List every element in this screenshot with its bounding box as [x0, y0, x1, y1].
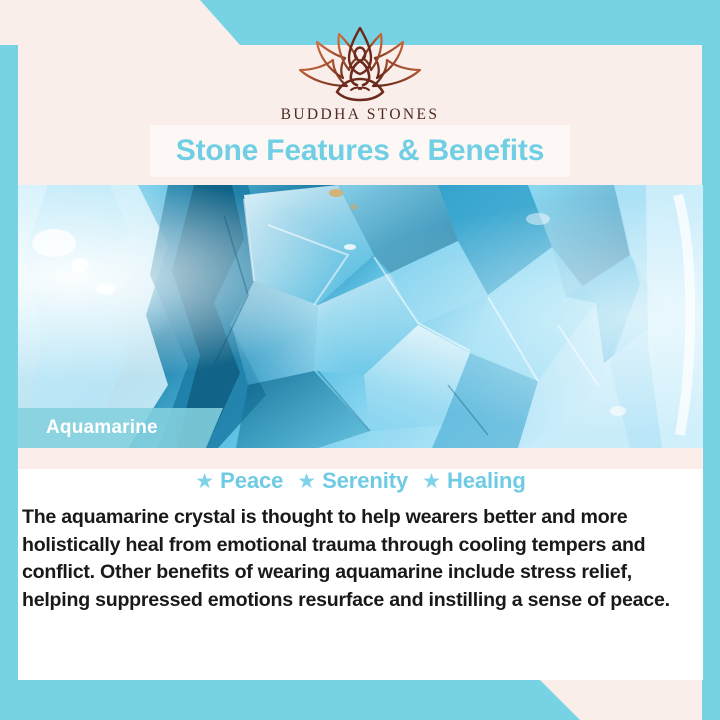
- lotus-meditation-icon: [285, 26, 435, 102]
- frame-accent-left: [0, 45, 18, 720]
- star-icon: ★: [422, 471, 441, 492]
- stone-name-label: Aquamarine: [46, 417, 158, 439]
- star-icon: ★: [195, 471, 214, 492]
- benefit-label: Serenity: [322, 468, 408, 494]
- benefit-item: ★ Peace: [195, 468, 283, 494]
- description-text: The aquamarine crystal is thought to hel…: [22, 504, 682, 614]
- frame-accent-bottom: [0, 680, 720, 720]
- title-banner: Stone Features & Benefits: [150, 125, 570, 177]
- stone-info-card: BUDDHA STONES Stone Features & Benefits: [0, 0, 720, 720]
- benefit-label: Healing: [447, 468, 526, 494]
- benefits-row: ★ Peace ★ Serenity ★ Healing: [18, 464, 703, 498]
- page-title: Stone Features & Benefits: [176, 134, 544, 168]
- benefit-item: ★ Healing: [422, 468, 526, 494]
- benefit-label: Peace: [220, 468, 283, 494]
- stone-name-chip: Aquamarine: [18, 408, 223, 448]
- brand-name: BUDDHA STONES: [0, 106, 720, 124]
- benefit-item: ★ Serenity: [297, 468, 408, 494]
- brand-logo: BUDDHA STONES: [0, 26, 720, 124]
- star-icon: ★: [297, 471, 316, 492]
